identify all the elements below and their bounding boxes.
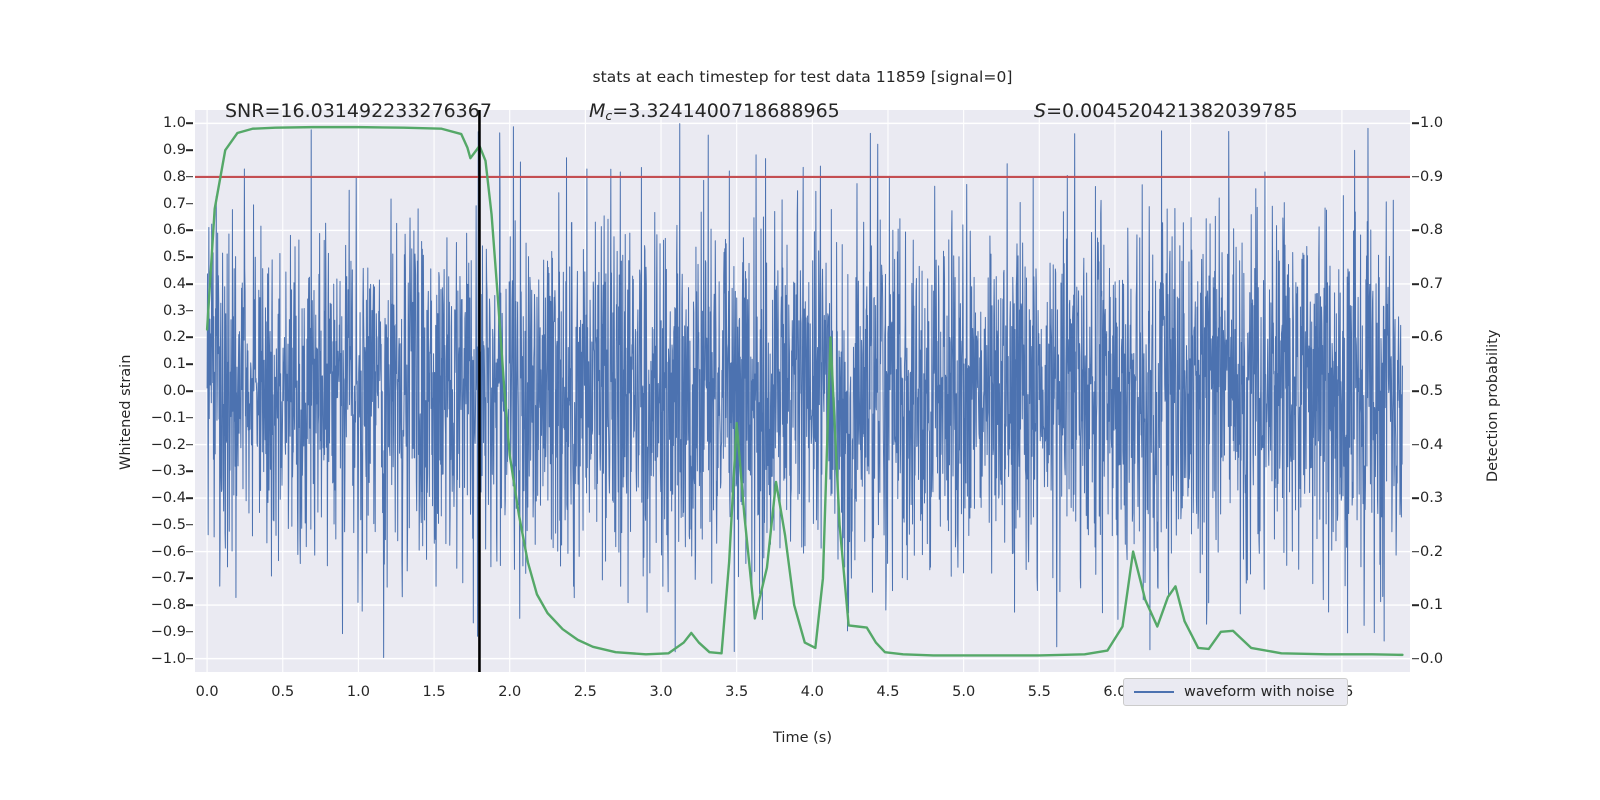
plot-area <box>195 110 1410 672</box>
y-tick-left-18: −0.8 <box>151 597 186 613</box>
x-tick-5: 2.5 <box>574 684 597 700</box>
legend-label-waveform: waveform with noise <box>1184 684 1335 700</box>
y-tick-mark-right-10 <box>1412 658 1419 660</box>
y-tick-mark-right-6 <box>1412 444 1419 446</box>
y-tick-mark-left-2 <box>186 176 193 178</box>
y-tick-mark-left-3 <box>186 203 193 205</box>
y-tick-left-15: −0.5 <box>151 517 186 533</box>
data-layer <box>195 110 1410 672</box>
y-tick-mark-left-15 <box>186 524 193 526</box>
y-tick-right-4: 0.6 <box>1420 329 1443 345</box>
mc-equals: = <box>612 100 628 122</box>
y-tick-mark-right-4 <box>1412 337 1419 339</box>
annotation-chirp-mass: Mc=3.3241400718688965 <box>589 100 840 123</box>
y-tick-right-6: 0.4 <box>1420 437 1443 453</box>
y-tick-mark-left-0 <box>186 123 193 125</box>
annotation-statistic: S=0.004520421382039785 <box>1034 100 1298 122</box>
y-tick-left-3: 0.7 <box>163 196 186 212</box>
y-tick-mark-left-6 <box>186 283 193 285</box>
y-tick-left-6: 0.4 <box>163 276 186 292</box>
y-tick-mark-left-10 <box>186 390 193 392</box>
x-tick-1: 0.5 <box>271 684 294 700</box>
y-tick-mark-right-3 <box>1412 283 1419 285</box>
y-tick-mark-left-9 <box>186 363 193 365</box>
x-tick-7: 3.5 <box>725 684 748 700</box>
x-axis-label: Time (s) <box>195 730 1410 746</box>
y-tick-mark-left-13 <box>186 470 193 472</box>
y-axis-label-left: Whitened strain <box>118 355 134 470</box>
y-tick-mark-right-1 <box>1412 176 1419 178</box>
y-tick-mark-right-9 <box>1412 604 1419 606</box>
y-tick-left-2: 0.8 <box>163 169 186 185</box>
x-tick-11: 5.5 <box>1028 684 1051 700</box>
s-equals: = <box>1046 100 1062 122</box>
y-tick-left-12: −0.2 <box>151 437 186 453</box>
legend[interactable]: waveform with noise <box>1123 678 1348 706</box>
y-tick-right-5: 0.5 <box>1420 383 1443 399</box>
y-tick-left-13: −0.3 <box>151 463 186 479</box>
y-tick-left-20: −1.0 <box>151 651 186 667</box>
y-tick-mark-left-1 <box>186 149 193 151</box>
y-tick-left-16: −0.6 <box>151 544 186 560</box>
y-tick-left-7: 0.3 <box>163 303 186 319</box>
y-tick-right-1: 0.9 <box>1420 169 1443 185</box>
x-tick-9: 4.5 <box>876 684 899 700</box>
y-tick-left-14: −0.4 <box>151 490 186 506</box>
y-tick-mark-left-4 <box>186 230 193 232</box>
x-tick-2: 1.0 <box>347 684 370 700</box>
y-tick-mark-left-17 <box>186 578 193 580</box>
figure-canvas: stats at each timestep for test data 118… <box>0 0 1600 800</box>
y-tick-right-7: 0.3 <box>1420 490 1443 506</box>
y-tick-left-0: 1.0 <box>163 115 186 131</box>
s-symbol: S <box>1034 100 1046 122</box>
annotation-snr: SNR=16.031492233276367 <box>225 100 492 122</box>
x-tick-6: 3.0 <box>649 684 672 700</box>
mc-value: 3.3241400718688965 <box>628 100 840 122</box>
y-tick-mark-left-19 <box>186 631 193 633</box>
y-tick-right-8: 0.2 <box>1420 544 1443 560</box>
y-tick-mark-left-11 <box>186 417 193 419</box>
y-tick-mark-left-16 <box>186 551 193 553</box>
y-tick-mark-left-12 <box>186 444 193 446</box>
y-tick-right-2: 0.8 <box>1420 222 1443 238</box>
snr-label: SNR= <box>225 100 280 122</box>
y-tick-right-3: 0.7 <box>1420 276 1443 292</box>
y-axis-label-right: Detection probability <box>1485 330 1501 482</box>
y-tick-mark-left-18 <box>186 604 193 606</box>
x-tick-10: 5.0 <box>952 684 975 700</box>
y-tick-left-1: 0.9 <box>163 142 186 158</box>
y-tick-left-8: 0.2 <box>163 329 186 345</box>
y-tick-mark-right-5 <box>1412 390 1419 392</box>
y-tick-left-17: −0.7 <box>151 570 186 586</box>
y-tick-left-9: 0.1 <box>163 356 186 372</box>
page-title: stats at each timestep for test data 118… <box>195 68 1410 86</box>
y-tick-mark-left-14 <box>186 497 193 499</box>
y-tick-mark-right-0 <box>1412 123 1419 125</box>
y-tick-left-11: −0.1 <box>151 410 186 426</box>
y-tick-mark-left-20 <box>186 658 193 660</box>
x-tick-3: 1.5 <box>423 684 446 700</box>
mc-symbol: M <box>589 100 605 122</box>
y-tick-mark-left-8 <box>186 337 193 339</box>
x-tick-4: 2.0 <box>498 684 521 700</box>
y-tick-mark-right-8 <box>1412 551 1419 553</box>
y-tick-right-9: 0.1 <box>1420 597 1443 613</box>
y-tick-right-10: 0.0 <box>1420 651 1443 667</box>
y-tick-left-19: −0.9 <box>151 624 186 640</box>
x-tick-8: 4.0 <box>801 684 824 700</box>
y-tick-left-4: 0.6 <box>163 222 186 238</box>
y-tick-left-5: 0.5 <box>163 249 186 265</box>
y-tick-mark-right-2 <box>1412 230 1419 232</box>
y-tick-mark-right-7 <box>1412 497 1419 499</box>
y-tick-left-10: 0.0 <box>163 383 186 399</box>
x-tick-0: 0.0 <box>196 684 219 700</box>
s-value: 0.004520421382039785 <box>1062 100 1298 122</box>
legend-line-swatch-waveform <box>1134 691 1174 694</box>
y-tick-mark-left-5 <box>186 256 193 258</box>
snr-value: 16.031492233276367 <box>280 100 492 122</box>
y-tick-right-0: 1.0 <box>1420 115 1443 131</box>
y-tick-mark-left-7 <box>186 310 193 312</box>
